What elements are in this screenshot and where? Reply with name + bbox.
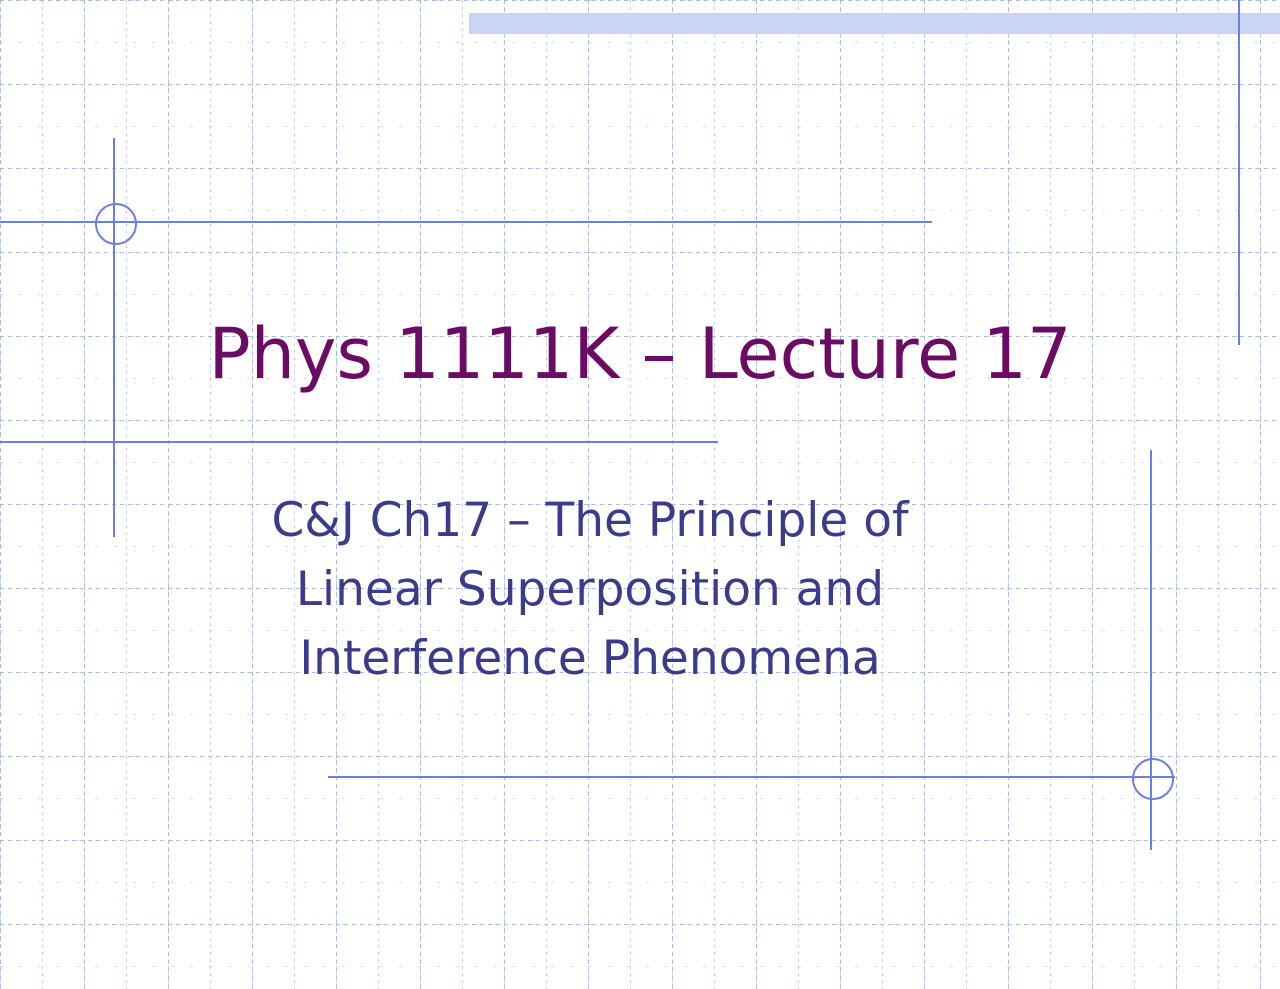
subtitle-block: C&J Ch17 – The Principle of Linear Super…: [190, 486, 990, 693]
upper-horizontal-rule: [0, 221, 932, 223]
title-block: Phys 1111K – Lecture 17: [0, 318, 1280, 392]
presentation-slide: Phys 1111K – Lecture 17 C&J Ch17 – The P…: [0, 0, 1280, 989]
subtitle-line-3: Interference Phenomena: [190, 624, 990, 693]
subtitle-line-2: Linear Superposition and: [190, 555, 990, 624]
slide-title: Phys 1111K – Lecture 17: [0, 318, 1280, 392]
lower-right-vertical-rule: [1150, 450, 1152, 850]
lower-horizontal-rule: [328, 776, 1175, 778]
top-accent-bar: [469, 13, 1280, 34]
mid-horizontal-rule: [0, 441, 718, 443]
top-right-vertical-rule: [1238, 0, 1240, 345]
lower-right-circle-mark: [1132, 758, 1174, 800]
upper-left-circle-mark: [95, 203, 137, 245]
subtitle-line-1: C&J Ch17 – The Principle of: [190, 486, 990, 555]
